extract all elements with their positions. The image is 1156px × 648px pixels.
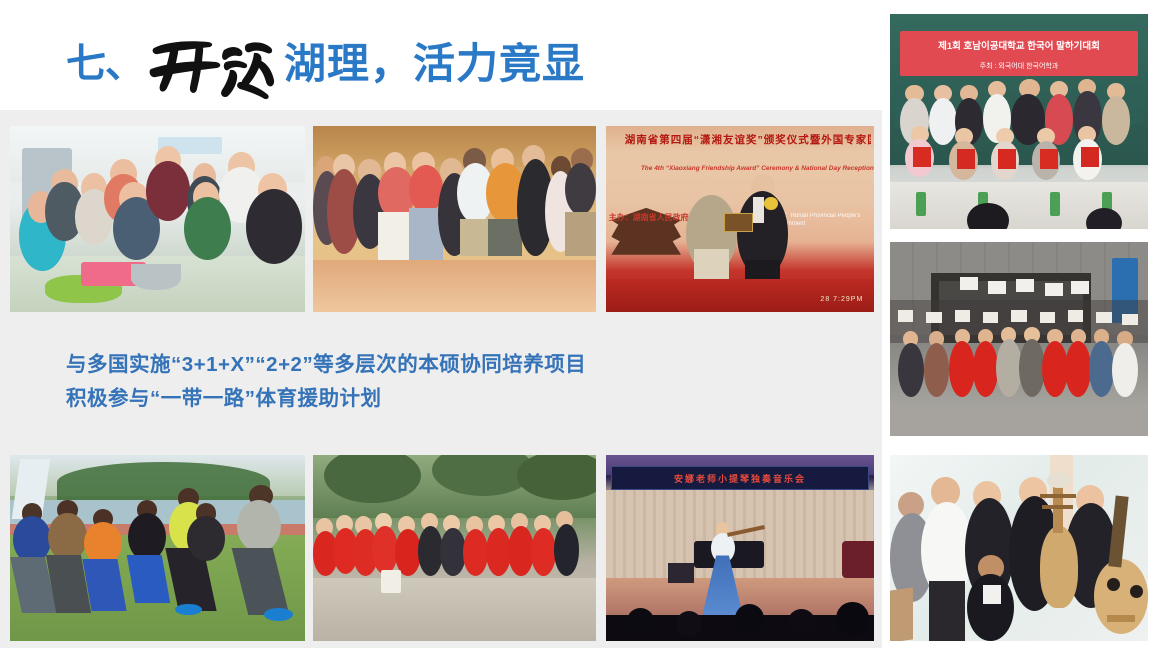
photo-certificate-ceremony <box>890 242 1148 436</box>
banner-headline-cn: 湖南省第四届“潇湘友谊奖”颁奖仪式暨外国专家国庆招待会 <box>625 132 872 149</box>
photo-korean-speech-contest: 제1회 호남이공대학교 한국어 말하기대회 주최 : 외국어대 한국어학과 <box>890 14 1148 229</box>
slide-canvas: 七、 <box>0 0 1156 648</box>
section-index: 七、 <box>66 44 144 84</box>
photo-xiaoxiang-friendship-award: 湖南省第四届“潇湘友谊奖”颁奖仪式暨外国专家国庆招待会 The 4th “Xia… <box>606 126 874 312</box>
korean-banner-subtitle: 주최 : 외국어대 한국어학과 <box>903 57 1135 74</box>
caption-line-2: 积极参与“一带一路”体育援助计划 <box>66 382 826 416</box>
title-row: 七、 <box>66 28 585 100</box>
photo-red-jacket-students <box>313 455 596 641</box>
photo-foreign-teachers-group <box>313 126 596 312</box>
slide-header: 七、 <box>0 0 882 110</box>
photo-timestamp: 28 7:29PM <box>820 296 863 303</box>
korean-banner-title: 제1회 호남이공대학교 한국어 말하기대회 <box>903 36 1135 55</box>
calligraphy-kaifang <box>146 28 278 100</box>
photo-traditional-instruments <box>890 455 1148 641</box>
photo-athletes-training <box>10 455 305 641</box>
caption-line-1: 与多国实施“3+1+X”“2+2”等多层次的本硕协同培养项目 <box>66 348 826 382</box>
banner-host-cn: 主办：湖南省人民政府 <box>609 212 689 223</box>
photo-zongzi-workshop <box>10 126 305 312</box>
caption-block: 与多国实施“3+1+X”“2+2”等多层次的本硕协同培养项目 积极参与“一带一路… <box>66 348 826 416</box>
right-photo-column: 제1회 호남이공대학교 한국어 말하기대회 주최 : 외국어대 한국어학과 <box>882 0 1156 648</box>
photo-violin-recital: 安娜老师小提琴独奏音乐会 <box>606 455 874 641</box>
stage-banner-text: 安娜老师小提琴独奏音乐会 <box>611 468 868 488</box>
page-title: 湖理，活力竟显 <box>284 43 585 85</box>
